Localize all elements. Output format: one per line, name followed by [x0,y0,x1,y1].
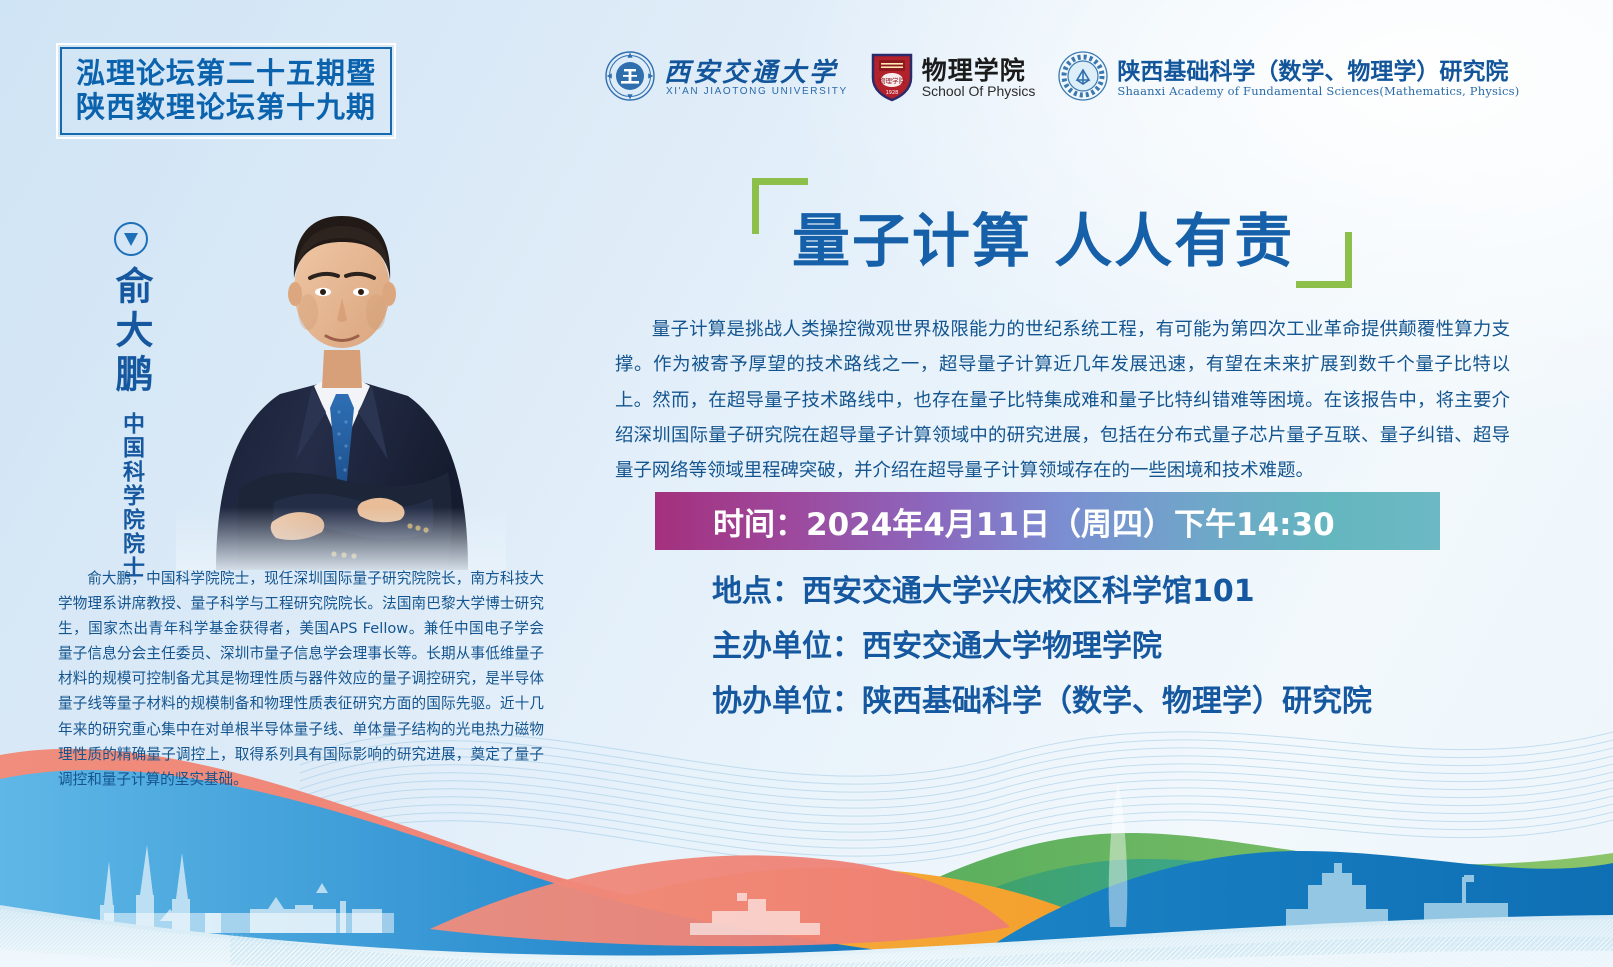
logo-safs-en: Shaanxi Academy of Fundamental Sciences(… [1117,85,1519,97]
logo-sop-en: School Of Physics [922,84,1036,99]
shield-crest-icon: 物理学院 1928 [870,50,914,107]
event-detail-location: 地点：西安交通大学兴庆校区科学馆101 [712,565,1372,620]
logo-xjtu-en: XI'AN JIAOTONG UNIVERSITY [664,87,848,98]
logo-row: 西安交通大学 XI'AN JIAOTONG UNIVERSITY 物理学院 19… [604,50,1519,107]
svg-text:物理学院: 物理学院 [879,76,906,85]
logo-sop-cn: 物理学院 [922,58,1036,84]
academy-gear-icon [1057,50,1109,107]
chevron-down-circle-icon [114,222,148,256]
logo-shaanxi-academy: 陕西基础科学（数学、物理学）研究院 Shaanxi Academy of Fun… [1057,50,1519,107]
event-detail-organizer: 主办单位：西安交通大学物理学院 [712,620,1372,675]
bracket-bottom-right [1296,232,1352,288]
logo-xjtu-cn: 西安交通大学 [664,60,848,87]
talk-headline: 量子计算 人人有责 [792,194,1294,278]
speaker-name: 俞大鹏 [112,266,150,398]
logo-safs-cn: 陕西基础科学（数学、物理学）研究院 [1117,60,1519,84]
poster-canvas: 泓理论坛第二十五期暨 陕西数理论坛第十九期 [0,0,1613,967]
speaker-bio: 俞大鹏，中国科学院院士，现任深圳国际量子研究院院长，南方科技大学物理系讲席教授、… [58,566,544,792]
talk-abstract: 量子计算是挑战人类操控微观世界极限能力的世纪系统工程，有可能为第四次工业革命提供… [615,312,1510,489]
event-details: 地点：西安交通大学兴庆校区科学馆101 主办单位：西安交通大学物理学院 协办单位… [712,565,1372,730]
series-title-box: 泓理论坛第二十五期暨 陕西数理论坛第十九期 [60,47,392,135]
series-title-line-1: 泓理论坛第二十五期暨 [76,56,376,90]
speaker-portrait [176,150,506,570]
speaker-title: 中国科学院院士 [120,412,142,580]
event-time-text: 时间：2024年4月11日（周四）下午14:30 [655,499,1335,544]
headline-block: 量子计算 人人有责 [752,178,1352,288]
logo-school-of-physics: 物理学院 1928 物理学院 School Of Physics [870,50,1036,107]
series-title-line-2: 陕西数理论坛第十九期 [76,90,376,124]
speaker-name-block: 俞大鹏 中国科学院院士 [112,222,150,580]
xjtu-seal-icon [604,50,656,107]
svg-text:1928: 1928 [885,90,898,96]
event-detail-coorganizer: 协办单位：陕西基础科学（数学、物理学）研究院 [712,675,1372,730]
logo-xjtu: 西安交通大学 XI'AN JIAOTONG UNIVERSITY [604,50,848,107]
event-time-banner: 时间：2024年4月11日（周四）下午14:30 [655,492,1440,550]
